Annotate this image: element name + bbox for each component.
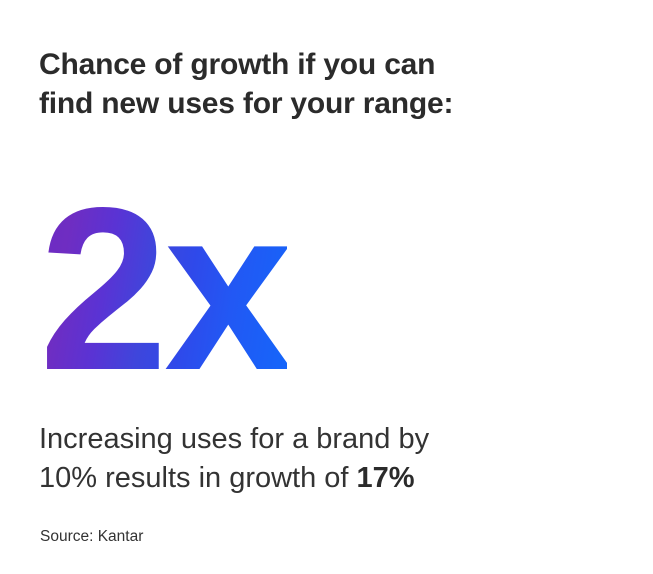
headline-line-1: Chance of growth if you can xyxy=(39,45,539,84)
infographic-card: Chance of growth if you can find new use… xyxy=(0,0,653,574)
source-attribution: Source: Kantar xyxy=(40,526,143,547)
stat-multiplier-figure: 2x xyxy=(39,174,287,374)
body-line-1: Increasing uses for a brand by xyxy=(39,420,559,459)
stat-multiplier-symbol: x xyxy=(164,174,287,406)
body-emphasis-value: 17% xyxy=(357,462,415,494)
page-title: Chance of growth if you can find new use… xyxy=(39,45,539,123)
headline-line-2: find new uses for your range: xyxy=(39,84,539,123)
body-line-2: 10% results in growth of 17% xyxy=(39,459,559,498)
stat-value: 2 xyxy=(39,174,162,406)
body-line-2-prefix: 10% results in growth of xyxy=(39,462,357,494)
stat-description: Increasing uses for a brand by 10% resul… xyxy=(39,420,559,498)
